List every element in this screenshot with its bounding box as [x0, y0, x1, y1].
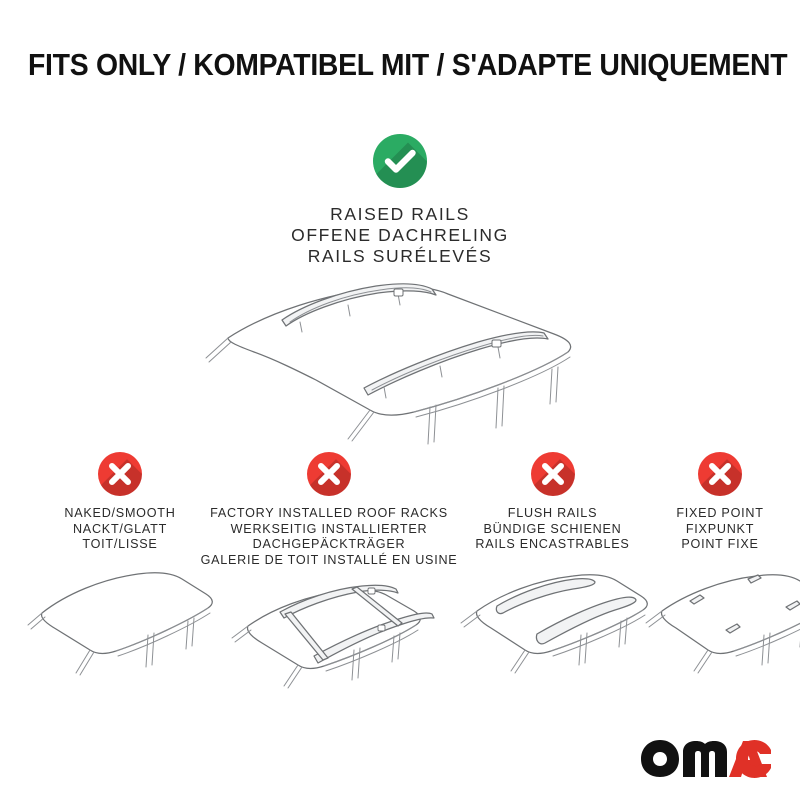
- excluded-label-de: BÜNDIGE SCHIENEN: [450, 522, 655, 538]
- excluded-label-fr: POINT FIXE: [640, 537, 800, 553]
- car-roof-with-raised-rails-illustration: [198, 276, 602, 446]
- omac-logo: [640, 738, 772, 778]
- excluded-labels-3: FLUSH RAILS BÜNDIGE SCHIENEN RAILS ENCAS…: [450, 506, 655, 553]
- check-circle-icon: [373, 134, 427, 188]
- excluded-item-flush-rails: FLUSH RAILS BÜNDIGE SCHIENEN RAILS ENCAS…: [450, 452, 655, 686]
- excluded-labels-2: FACTORY INSTALLED ROOF RACKS WERKSEITIG …: [200, 506, 458, 568]
- approved-badge-wrap: [0, 134, 800, 188]
- approved-label-fr: RAILS SURÉLEVÉS: [0, 246, 800, 267]
- excluded-labels-4: FIXED POINT FIXPUNKT POINT FIXE: [640, 506, 800, 553]
- approved-type-block: RAISED RAILS OFFENE DACHRELING RAILS SUR…: [0, 134, 800, 267]
- excluded-label-en: FACTORY INSTALLED ROOF RACKS: [200, 506, 458, 522]
- x-circle-icon: [698, 452, 742, 496]
- compatibility-infographic: FITS ONLY / KOMPATIBEL MIT / S'ADAPTE UN…: [0, 0, 800, 800]
- excluded-item-fixed-point: FIXED POINT FIXPUNKT POINT FIXE: [640, 452, 800, 686]
- x-circle-icon: [307, 452, 351, 496]
- excluded-label-fr: RAILS ENCASTRABLES: [450, 537, 655, 553]
- excluded-item-factory-racks: FACTORY INSTALLED ROOF RACKS WERKSEITIG …: [200, 452, 458, 701]
- car-roof-flush-rails-illustration: [450, 561, 655, 686]
- excluded-label-de: FIXPUNKT: [640, 522, 800, 538]
- excluded-label-de-2: DACHGEPÄCKTRÄGER: [200, 537, 458, 553]
- car-roof-fixed-point-illustration: [640, 561, 800, 686]
- approved-labels: RAISED RAILS OFFENE DACHRELING RAILS SUR…: [0, 204, 800, 267]
- excluded-label-en: FLUSH RAILS: [450, 506, 655, 522]
- excluded-label-fr: GALERIE DE TOIT INSTALLÉ EN USINE: [200, 553, 458, 569]
- excluded-label-de-1: WERKSEITIG INSTALLIERTER: [200, 522, 458, 538]
- car-roof-with-factory-crossbars-illustration: [200, 576, 458, 701]
- excluded-label-en: FIXED POINT: [640, 506, 800, 522]
- approved-label-de: OFFENE DACHRELING: [0, 225, 800, 246]
- excluded-badge-wrap-3: [450, 452, 655, 496]
- excluded-badge-wrap-2: [200, 452, 458, 496]
- x-circle-icon: [98, 452, 142, 496]
- excluded-badge-wrap-4: [640, 452, 800, 496]
- x-circle-icon: [531, 452, 575, 496]
- page-title: FITS ONLY / KOMPATIBEL MIT / S'ADAPTE UN…: [28, 48, 772, 83]
- header: FITS ONLY / KOMPATIBEL MIT / S'ADAPTE UN…: [0, 48, 800, 83]
- approved-label-en: RAISED RAILS: [0, 204, 800, 225]
